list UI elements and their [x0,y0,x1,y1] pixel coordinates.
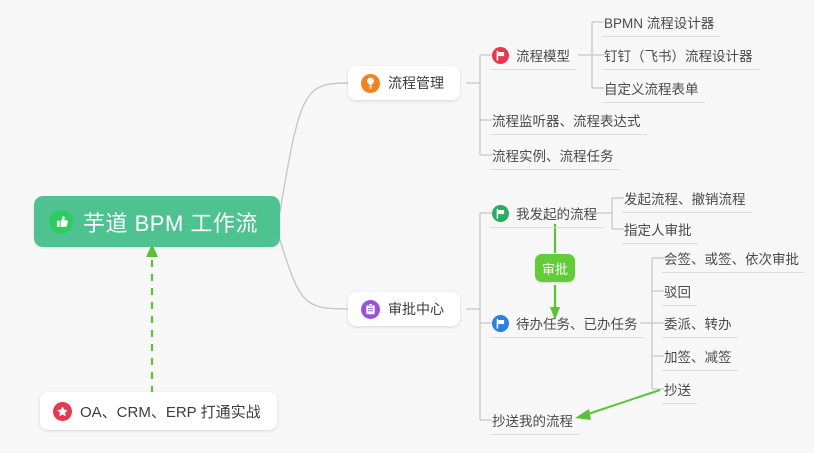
node-process-model[interactable]: 流程模型 [490,41,576,70]
node-label: 委派、转办 [664,313,732,333]
flag-icon [492,205,509,222]
node-label: 流程模型 [516,45,570,65]
node-label: 发起流程、撤销流程 [624,188,746,208]
node-label: 钉钉（飞书）流程设计器 [604,45,753,65]
node-label: 会签、或签、依次审批 [664,248,799,268]
node-custom-form[interactable]: 自定义流程表单 [602,74,705,103]
root-label: 芋道 BPM 工作流 [83,206,258,238]
node-label: 流程监听器、流程表达式 [492,110,641,130]
node-add-remove-sign[interactable]: 加签、减签 [662,342,738,371]
branch-node-process-management[interactable]: 流程管理 [348,66,460,100]
thumbs-up-icon [48,209,74,235]
node-label: 抄送 [664,379,691,399]
node-cc[interactable]: 抄送 [662,375,697,404]
node-label: 待办任务、已办任务 [516,313,638,333]
node-label: 自定义流程表单 [604,78,699,98]
integration-card-label: OA、CRM、ERP 打通实战 [80,401,261,422]
star-icon [53,402,72,421]
branch-node-approval-center[interactable]: 审批中心 [348,292,460,326]
node-listener-expression[interactable]: 流程监听器、流程表达式 [490,106,647,135]
flag-icon [492,315,509,332]
approval-tag-label: 审批 [542,259,568,278]
node-todo-done-tasks[interactable]: 待办任务、已办任务 [490,309,644,338]
clipboard-icon [361,300,380,319]
flag-icon [492,47,509,64]
node-bpmn-designer[interactable]: BPMN 流程设计器 [602,8,720,37]
node-label: 加签、减签 [664,346,732,366]
branch-label: 审批中心 [388,299,444,319]
node-instance-task[interactable]: 流程实例、流程任务 [490,141,620,170]
node-label: 指定人审批 [624,219,692,239]
node-countersign[interactable]: 会签、或签、依次审批 [662,244,805,273]
integration-card[interactable]: OA、CRM、ERP 打通实战 [40,392,277,430]
node-label: 驳回 [664,281,691,301]
node-delegate-transfer[interactable]: 委派、转办 [662,309,738,338]
node-dingtalk-feishu-designer[interactable]: 钉钉（飞书）流程设计器 [602,41,759,70]
node-label: 我发起的流程 [516,203,597,223]
node-label: BPMN 流程设计器 [604,12,714,32]
root-node[interactable]: 芋道 BPM 工作流 [34,196,280,247]
node-cc-to-me[interactable]: 抄送我的流程 [490,406,579,435]
node-start-cancel-process[interactable]: 发起流程、撤销流程 [622,184,752,213]
mindmap-canvas: 芋道 BPM 工作流 流程管理 流程模型 BPMN 流程设计器 钉钉（飞书）流程 [0,0,814,453]
branch-label: 流程管理 [388,73,444,93]
node-label: 流程实例、流程任务 [492,145,614,165]
node-reject[interactable]: 驳回 [662,277,697,306]
node-assignee-approval[interactable]: 指定人审批 [622,215,698,244]
lightbulb-icon [361,74,380,93]
approval-tag: 审批 [535,254,575,282]
node-my-initiated-process[interactable]: 我发起的流程 [490,199,603,228]
node-label: 抄送我的流程 [492,410,573,430]
